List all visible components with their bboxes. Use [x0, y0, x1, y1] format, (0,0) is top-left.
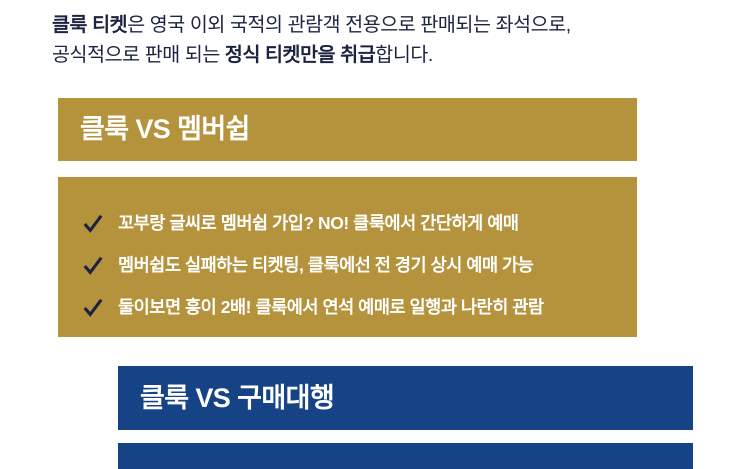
gold-bullet-label: 꼬부랑 글씨로 멤버쉽 가입? NO! 클룩에서 간단하게 예매 [118, 215, 519, 233]
intro-line-1: 클룩 티켓은 영국 이외 국적의 관람객 전용으로 판매되는 좌석으로, [52, 10, 712, 40]
list-item: 멤버쉽도 실패하는 티켓팅, 클룩에선 전 경기 상시 예매 가능 [82, 245, 627, 287]
gold-section-body: 꼬부랑 글씨로 멤버쉽 가입? NO! 클룩에서 간단하게 예매 멤버쉽도 실패… [58, 177, 637, 337]
intro-line-2: 공식적으로 판매 되는 정식 티켓만을 취급합니다. [52, 40, 712, 70]
list-item: 꼬부랑 글씨로 멤버쉽 가입? NO! 클룩에서 간단하게 예매 [82, 203, 627, 245]
check-icon [82, 213, 104, 235]
blue-section-header: 클룩 VS 구매대행 [118, 366, 693, 430]
gold-section-title: 클룩 VS 멤버쉽 [80, 116, 250, 143]
gold-bullet-label: 둘이보면 흥이 2배! 클룩에서 연석 예매로 일행과 나란히 관람 [118, 299, 544, 317]
blue-section-body [118, 443, 693, 469]
gold-bullet-list: 꼬부랑 글씨로 멤버쉽 가입? NO! 클룩에서 간단하게 예매 멤버쉽도 실패… [82, 203, 627, 329]
intro-line-2-suffix: 합니다. [375, 44, 433, 66]
intro-paragraph: 클룩 티켓은 영국 이외 국적의 관람객 전용으로 판매되는 좌석으로, 공식적… [52, 10, 712, 70]
gold-section-header: 클룩 VS 멤버쉽 [58, 98, 637, 161]
list-item: 둘이보면 흥이 2배! 클룩에서 연석 예매로 일행과 나란히 관람 [82, 287, 627, 329]
promo-page: 클룩 티켓은 영국 이외 국적의 관람객 전용으로 판매되는 좌석으로, 공식적… [0, 0, 750, 469]
intro-line-1-rest: 은 영국 이외 국적의 관람객 전용으로 판매되는 좌석으로, [127, 14, 571, 36]
intro-line-2-prefix: 공식적으로 판매 되는 [52, 44, 225, 66]
intro-line-1-bold: 클룩 티켓 [52, 14, 127, 36]
blue-section-title: 클룩 VS 구매대행 [140, 385, 334, 412]
intro-line-2-bold: 정식 티켓만을 취급 [225, 44, 375, 66]
check-icon [82, 297, 104, 319]
gold-bullet-label: 멤버쉽도 실패하는 티켓팅, 클룩에선 전 경기 상시 예매 가능 [118, 257, 533, 275]
check-icon [82, 255, 104, 277]
